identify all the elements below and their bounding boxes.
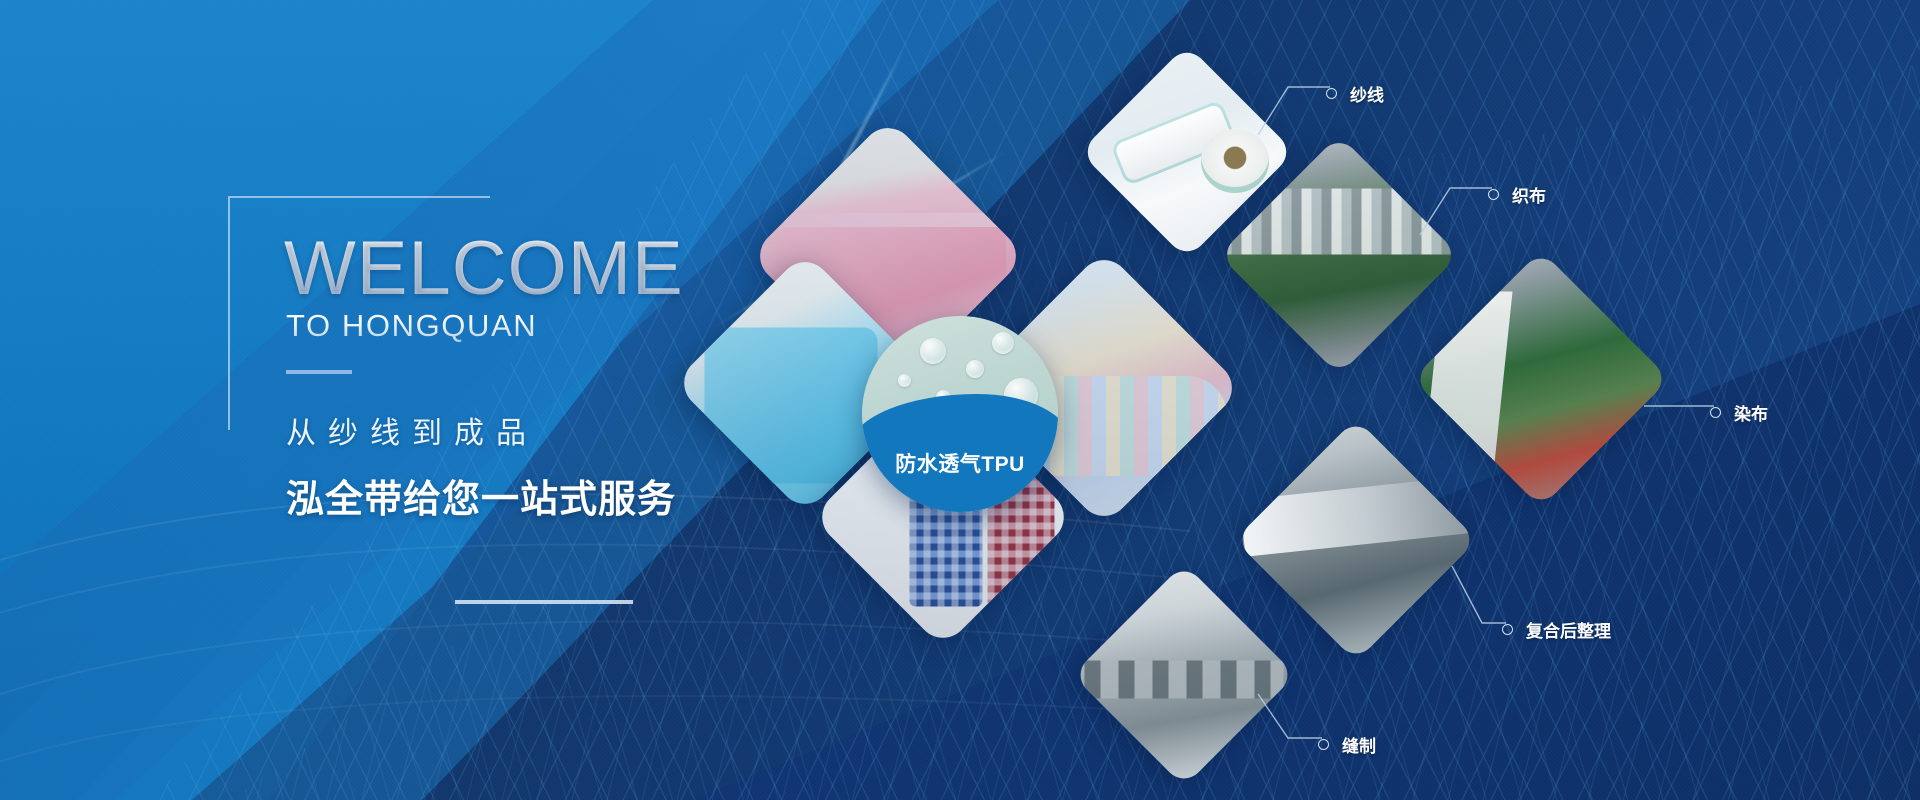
accent-bar	[286, 370, 352, 374]
process-label-text: 复合后整理	[1526, 617, 1611, 642]
marker-dot-icon	[1502, 624, 1513, 635]
tpu-badge: 防水透气TPU	[862, 316, 1058, 512]
process-label-yarn: 纱线	[1326, 81, 1384, 106]
process-label-text: 缝制	[1342, 732, 1376, 757]
divider-rule	[455, 600, 633, 604]
process-label-dyeing: 染布	[1710, 400, 1768, 425]
page-subtitle: TO HONGQUAN	[228, 308, 788, 344]
marker-dot-icon	[1326, 88, 1337, 99]
process-label-sewing: 缝制	[1318, 732, 1376, 757]
marker-dot-icon	[1488, 189, 1499, 200]
process-label-weaving: 织布	[1488, 182, 1546, 207]
banner-stage: WELCOME TO HONGQUAN 从纱线到成品 泓全带给您一站式服务 防水…	[0, 0, 1920, 800]
tpu-badge-label: 防水透气TPU	[862, 448, 1058, 478]
process-label-laminating: 复合后整理	[1502, 617, 1611, 642]
marker-dot-icon	[1710, 407, 1721, 418]
process-label-text: 染布	[1734, 400, 1768, 425]
process-label-text: 纱线	[1350, 81, 1384, 106]
page-title: WELCOME	[228, 196, 788, 306]
marker-dot-icon	[1318, 739, 1329, 750]
tagline-large: 泓全带给您一站式服务	[286, 468, 788, 523]
process-label-text: 织布	[1512, 182, 1546, 207]
